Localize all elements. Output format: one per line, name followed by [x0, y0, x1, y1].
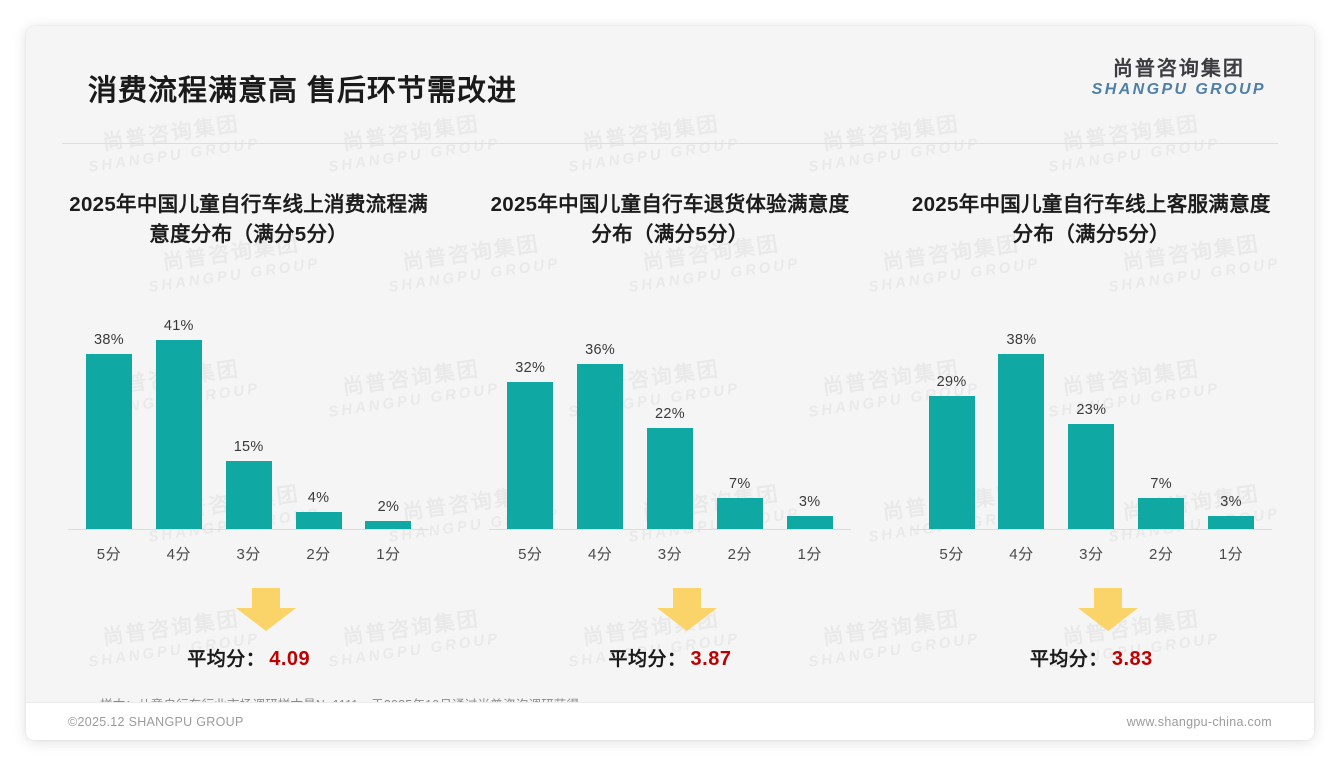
copyright-text: ©2025.12 SHANGPU GROUP	[68, 715, 244, 729]
bar-group: 38%41%15%4%2%	[74, 314, 423, 530]
average-score-block: 平均分：3.87	[459, 588, 880, 682]
bar-value-label: 7%	[729, 476, 751, 492]
x-axis-tick-label: 3分	[635, 543, 705, 564]
x-axis-line	[911, 529, 1272, 530]
bar[interactable]	[296, 512, 342, 530]
x-axis-tick-label: 1分	[775, 543, 845, 564]
bar-value-label: 2%	[378, 499, 400, 515]
bar-value-label: 41%	[164, 318, 194, 334]
x-axis-tick-label: 3分	[1056, 543, 1126, 564]
slide-card: 尚普咨询集团SHANGPU GROUP尚普咨询集团SHANGPU GROUP尚普…	[26, 26, 1314, 740]
average-score-value: 4.09	[269, 648, 310, 670]
x-axis-labels: 5分4分3分2分1分	[917, 530, 1266, 564]
x-axis-labels: 5分4分3分2分1分	[495, 530, 844, 564]
arrow-down-icon	[656, 588, 718, 637]
slide-footer: ©2025.12 SHANGPU GROUP www.shangpu-china…	[26, 702, 1314, 740]
bar-value-label: 3%	[799, 494, 821, 510]
average-score-line: 平均分：3.83	[881, 644, 1302, 671]
average-score-value: 3.83	[1112, 648, 1153, 670]
bar[interactable]	[156, 340, 202, 530]
bar-value-label: 3%	[1220, 494, 1242, 510]
chart-plot-area: 38%41%15%4%2%	[74, 314, 423, 530]
chart-panel: 2025年中国儿童自行车退货体验满意度分布（满分5分）32%36%22%7%3%…	[459, 172, 880, 682]
average-score-block: 平均分：3.83	[881, 588, 1302, 682]
watermark-cn: 尚普咨询集团	[84, 109, 259, 159]
bar[interactable]	[226, 461, 272, 530]
bar[interactable]	[86, 354, 132, 530]
arrow-down-icon	[1077, 588, 1139, 637]
bar-value-label: 4%	[308, 490, 330, 506]
chart-plot-area: 32%36%22%7%3%	[495, 314, 844, 530]
chart-panel: 2025年中国儿童自行车线上消费流程满意度分布（满分5分）38%41%15%4%…	[38, 172, 459, 682]
x-axis-tick-label: 1分	[1196, 543, 1266, 564]
bar-value-label: 38%	[1006, 332, 1036, 348]
watermark-cn: 尚普咨询集团	[564, 109, 739, 159]
page-title: 消费流程满意高 售后环节需改进	[88, 67, 517, 109]
bar-slot[interactable]: 7%	[705, 314, 775, 530]
x-axis-tick-label: 3分	[214, 543, 284, 564]
x-axis-tick-label: 5分	[74, 543, 144, 564]
bar-slot[interactable]: 36%	[565, 314, 635, 530]
bar-slot[interactable]: 4%	[284, 314, 354, 530]
chart-title: 2025年中国儿童自行车退货体验满意度分布（满分5分）	[459, 172, 880, 256]
x-axis-tick-label: 5分	[917, 543, 987, 564]
x-axis-line	[489, 529, 850, 530]
x-axis-tick-label: 4分	[144, 543, 214, 564]
bar-slot[interactable]: 2%	[353, 314, 423, 530]
bar[interactable]	[929, 396, 975, 530]
bar[interactable]	[647, 428, 693, 530]
x-axis-labels: 5分4分3分2分1分	[74, 530, 423, 564]
chart-title: 2025年中国儿童自行车线上消费流程满意度分布（满分5分）	[38, 172, 459, 256]
average-score-block: 平均分：4.09	[38, 588, 459, 682]
bar-slot[interactable]: 32%	[495, 314, 565, 530]
bar[interactable]	[1138, 498, 1184, 530]
bar-value-label: 38%	[94, 332, 124, 348]
bar-value-label: 32%	[515, 360, 545, 376]
x-axis-line	[68, 529, 429, 530]
x-axis-tick-label: 2分	[705, 543, 775, 564]
brand-logo-en: SHANGPU GROUP	[1092, 81, 1266, 99]
bar-slot[interactable]: 38%	[74, 314, 144, 530]
bar-group: 29%38%23%7%3%	[917, 314, 1266, 530]
bar-slot[interactable]: 38%	[987, 314, 1057, 530]
x-axis-tick-label: 2分	[284, 543, 354, 564]
bar[interactable]	[507, 382, 553, 530]
bar-slot[interactable]: 23%	[1056, 314, 1126, 530]
average-score-label: 平均分：	[187, 649, 265, 670]
bar-slot[interactable]: 15%	[214, 314, 284, 530]
bar[interactable]	[998, 354, 1044, 530]
x-axis-tick-label: 4分	[987, 543, 1057, 564]
bar-slot[interactable]: 3%	[1196, 314, 1266, 530]
bar-slot[interactable]: 22%	[635, 314, 705, 530]
x-axis-tick-label: 1分	[353, 543, 423, 564]
watermark-cn: 尚普咨询集团	[1044, 109, 1219, 159]
chart-title: 2025年中国儿童自行车线上客服满意度分布（满分5分）	[881, 172, 1302, 256]
brand-logo-cn: 尚普咨询集团	[1092, 58, 1266, 81]
average-score-line: 平均分：3.87	[459, 644, 880, 671]
brand-logo: 尚普咨询集团 SHANGPU GROUP	[1092, 58, 1266, 99]
bar-value-label: 22%	[655, 406, 685, 422]
average-score-value: 3.87	[691, 648, 732, 670]
bar[interactable]	[787, 516, 833, 530]
slide-header: 消费流程满意高 售后环节需改进 尚普咨询集团 SHANGPU GROUP	[26, 26, 1314, 116]
bar-value-label: 36%	[585, 342, 615, 358]
watermark-cn: 尚普咨询集团	[324, 109, 499, 159]
bar-value-label: 7%	[1150, 476, 1172, 492]
x-axis-tick-label: 5分	[495, 543, 565, 564]
average-score-line: 平均分：4.09	[38, 644, 459, 671]
chart-plot-area: 29%38%23%7%3%	[917, 314, 1266, 530]
charts-row: 2025年中国儿童自行车线上消费流程满意度分布（满分5分）38%41%15%4%…	[38, 172, 1302, 682]
bar-value-label: 15%	[234, 439, 264, 455]
bar-value-label: 29%	[937, 374, 967, 390]
bar[interactable]	[577, 364, 623, 530]
x-axis-tick-label: 2分	[1126, 543, 1196, 564]
bar-value-label: 23%	[1076, 402, 1106, 418]
bar-slot[interactable]: 29%	[917, 314, 987, 530]
bar-group: 32%36%22%7%3%	[495, 314, 844, 530]
arrow-down-icon	[235, 588, 297, 637]
watermark-cn: 尚普咨询集团	[804, 109, 979, 159]
chart-panel: 2025年中国儿童自行车线上客服满意度分布（满分5分）29%38%23%7%3%…	[881, 172, 1302, 682]
header-divider	[62, 143, 1278, 144]
bar-slot[interactable]: 7%	[1126, 314, 1196, 530]
bar-slot[interactable]: 3%	[775, 314, 845, 530]
average-score-label: 平均分：	[1030, 649, 1108, 670]
x-axis-tick-label: 4分	[565, 543, 635, 564]
bar[interactable]	[717, 498, 763, 530]
average-score-label: 平均分：	[609, 649, 687, 670]
bar[interactable]	[1068, 424, 1114, 530]
bar[interactable]	[1208, 516, 1254, 530]
bar-slot[interactable]: 41%	[144, 314, 214, 530]
website-link[interactable]: www.shangpu-china.com	[1127, 715, 1272, 729]
